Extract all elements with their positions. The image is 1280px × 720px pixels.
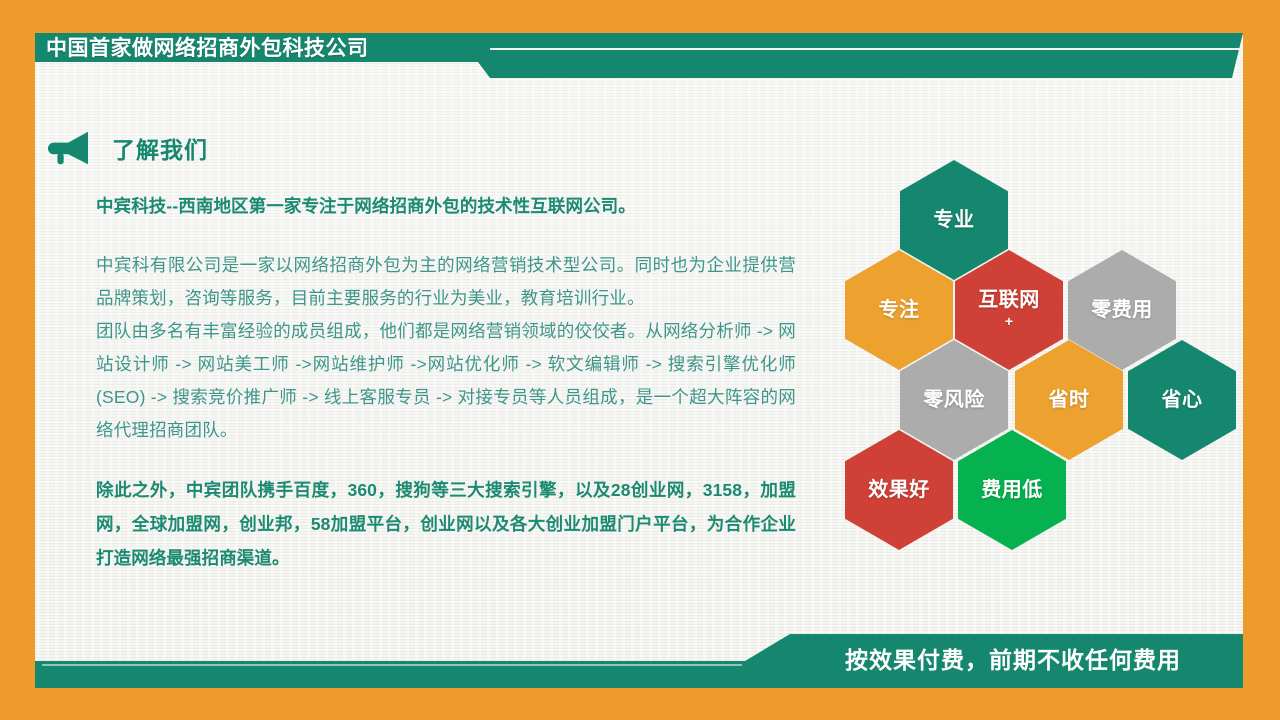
hexagon-label: 零风险 <box>923 389 985 412</box>
hexagon-label: 费用低 <box>981 479 1043 502</box>
hexagon-label: 省心 <box>1162 389 1203 412</box>
slide-root: 中国首家做网络招商外包科技公司 了解我们 中宾科技--西南地区第一家专注于网络招… <box>0 0 1280 720</box>
section-heading-label: 了解我们 <box>112 131 208 165</box>
hexagon-tile: 省心 <box>1128 340 1236 460</box>
body-paragraph-1: 中宾科有限公司是一家以网络招商外包为主的网络营销技术型公司。同时也为企业提供营品… <box>96 249 796 315</box>
body-paragraph-2: 团队由多名有丰富经验的成员组成，他们都是网络营销领域的佼佼者。从网络分析师 ->… <box>96 315 796 447</box>
header-hairline-divider <box>490 48 1242 50</box>
hexagon-sublabel: + <box>1005 312 1013 330</box>
hexagon-label: 效果好 <box>868 479 930 502</box>
hexagon-label: 省时 <box>1049 389 1090 412</box>
hexagon-label: 互联网 <box>978 289 1040 312</box>
body-text-column: 中宾科技--西南地区第一家专注于网络招商外包的技术性互联网公司。 中宾科有限公司… <box>96 190 796 575</box>
hexagon-cluster: 专业专注互联网+零费用零风险省时省心效果好费用低 <box>840 160 1240 540</box>
megaphone-icon <box>48 130 92 166</box>
lead-statement: 中宾科技--西南地区第一家专注于网络招商外包的技术性互联网公司。 <box>96 190 796 223</box>
closing-paragraph: 除此之外，中宾团队携手百度，360，搜狗等三大搜索引擎，以及28创业网，3158… <box>96 473 796 575</box>
footer-hairline-divider <box>42 664 742 666</box>
hexagon-label: 零费用 <box>1091 299 1153 322</box>
hexagon-label: 专注 <box>879 299 920 322</box>
hexagon-label: 专业 <box>934 209 975 232</box>
section-heading: 了解我们 <box>48 130 208 166</box>
footer-tagline: 按效果付费，前期不收任何费用 <box>845 644 1181 676</box>
slide-header-title: 中国首家做网络招商外包科技公司 <box>46 33 369 65</box>
